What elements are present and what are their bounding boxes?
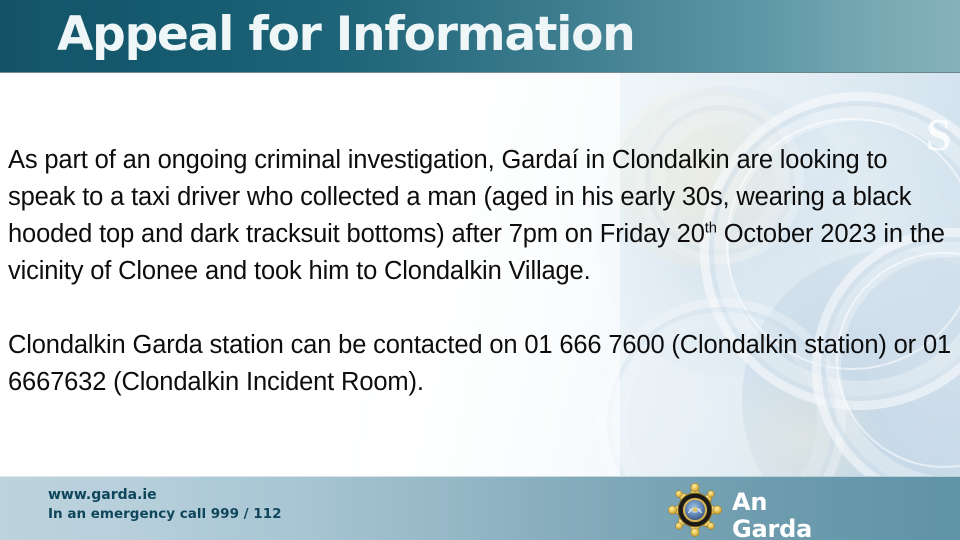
header-band: Appeal for Information <box>0 0 960 72</box>
footer-contact-block: www.garda.ie In an emergency call 999 / … <box>48 486 281 524</box>
contact-text: Clondalkin Garda station can be contacte… <box>8 331 951 396</box>
website-link[interactable]: www.garda.ie <box>48 486 281 505</box>
organisation-name: An Garda Síochána <box>732 489 853 540</box>
paragraph-appeal-details: As part of an ongoing criminal investiga… <box>8 142 952 290</box>
footer-band: www.garda.ie In an emergency call 999 / … <box>0 476 960 540</box>
garda-star-badge-icon <box>668 483 722 537</box>
garda-brand-text: An Garda Síochána Ag Coinneáil Daoine Sá… <box>732 489 853 540</box>
body-content: As part of an ongoing criminal investiga… <box>8 142 952 401</box>
page-title: Appeal for Information <box>57 5 635 65</box>
appeal-slide: S Appeal for Information As part of an o… <box>0 0 960 540</box>
emergency-number-text: In an emergency call 999 / 112 <box>48 505 281 524</box>
date-ordinal-suffix: th <box>705 221 717 237</box>
paragraph-contact-details: Clondalkin Garda station can be contacte… <box>8 327 952 401</box>
